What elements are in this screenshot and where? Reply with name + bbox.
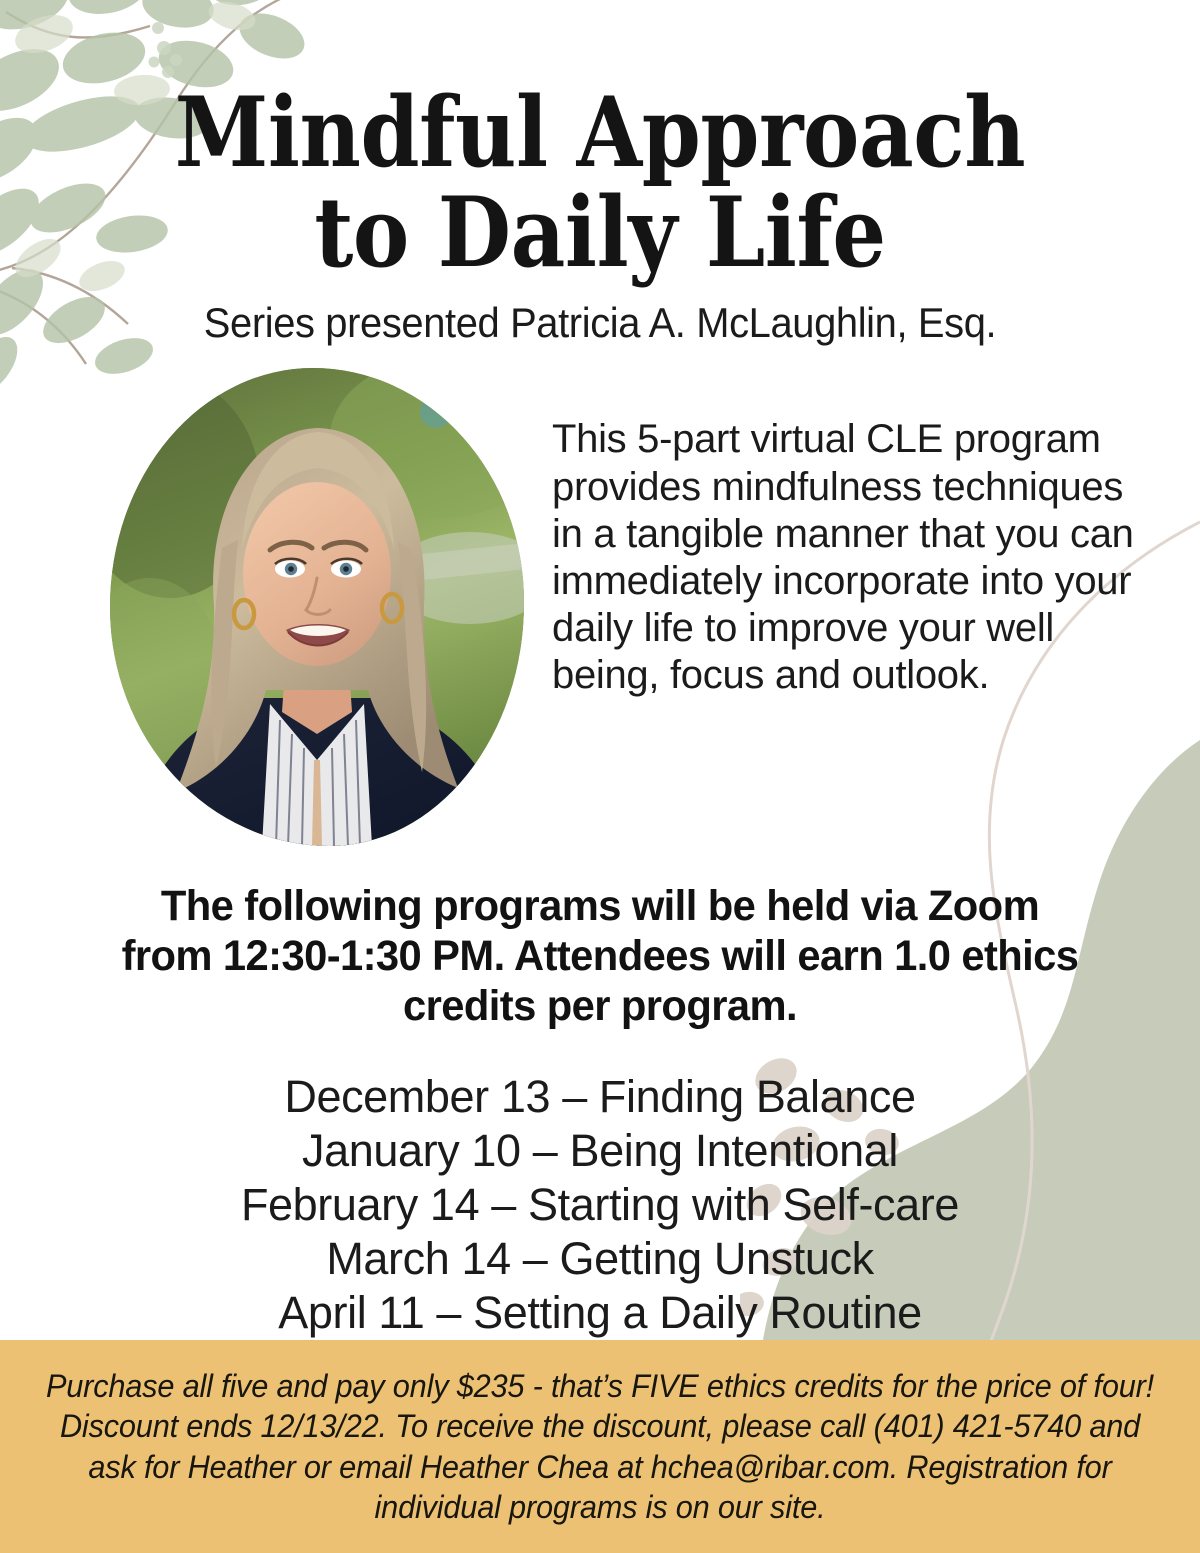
page-title-line-1: Mindful Approach xyxy=(72,86,1128,180)
discount-banner: Purchase all five and pay only $235 - th… xyxy=(0,1340,1200,1553)
intro-section: This 5-part virtual CLE program provides… xyxy=(0,368,1200,846)
list-item: March 14 – Getting Unstuck xyxy=(0,1232,1200,1286)
list-item: April 11 – Setting a Daily Routine xyxy=(0,1286,1200,1340)
session-list: December 13 – Finding Balance January 10… xyxy=(0,1070,1200,1340)
list-item: December 13 – Finding Balance xyxy=(0,1070,1200,1124)
program-description: This 5-part virtual CLE program provides… xyxy=(524,368,1200,699)
page-title-line-2: to Daily Life xyxy=(72,186,1128,280)
title-block: Mindful Approach to Daily Life xyxy=(0,0,1200,280)
presenter-photo-wrapper xyxy=(110,368,524,846)
list-item: February 14 – Starting with Self-care xyxy=(0,1178,1200,1232)
list-item: January 10 – Being Intentional xyxy=(0,1124,1200,1178)
schedule-notice: The following programs will be held via … xyxy=(18,882,1182,1032)
discount-details-text: Purchase all five and pay only $235 - th… xyxy=(24,1366,1176,1527)
flyer-page: Mindful Approach to Daily Life Series pr… xyxy=(0,0,1200,1553)
presenter-subtitle: Series presented Patricia A. McLaughlin,… xyxy=(30,300,1170,346)
presenter-headshot-photo xyxy=(110,368,524,846)
